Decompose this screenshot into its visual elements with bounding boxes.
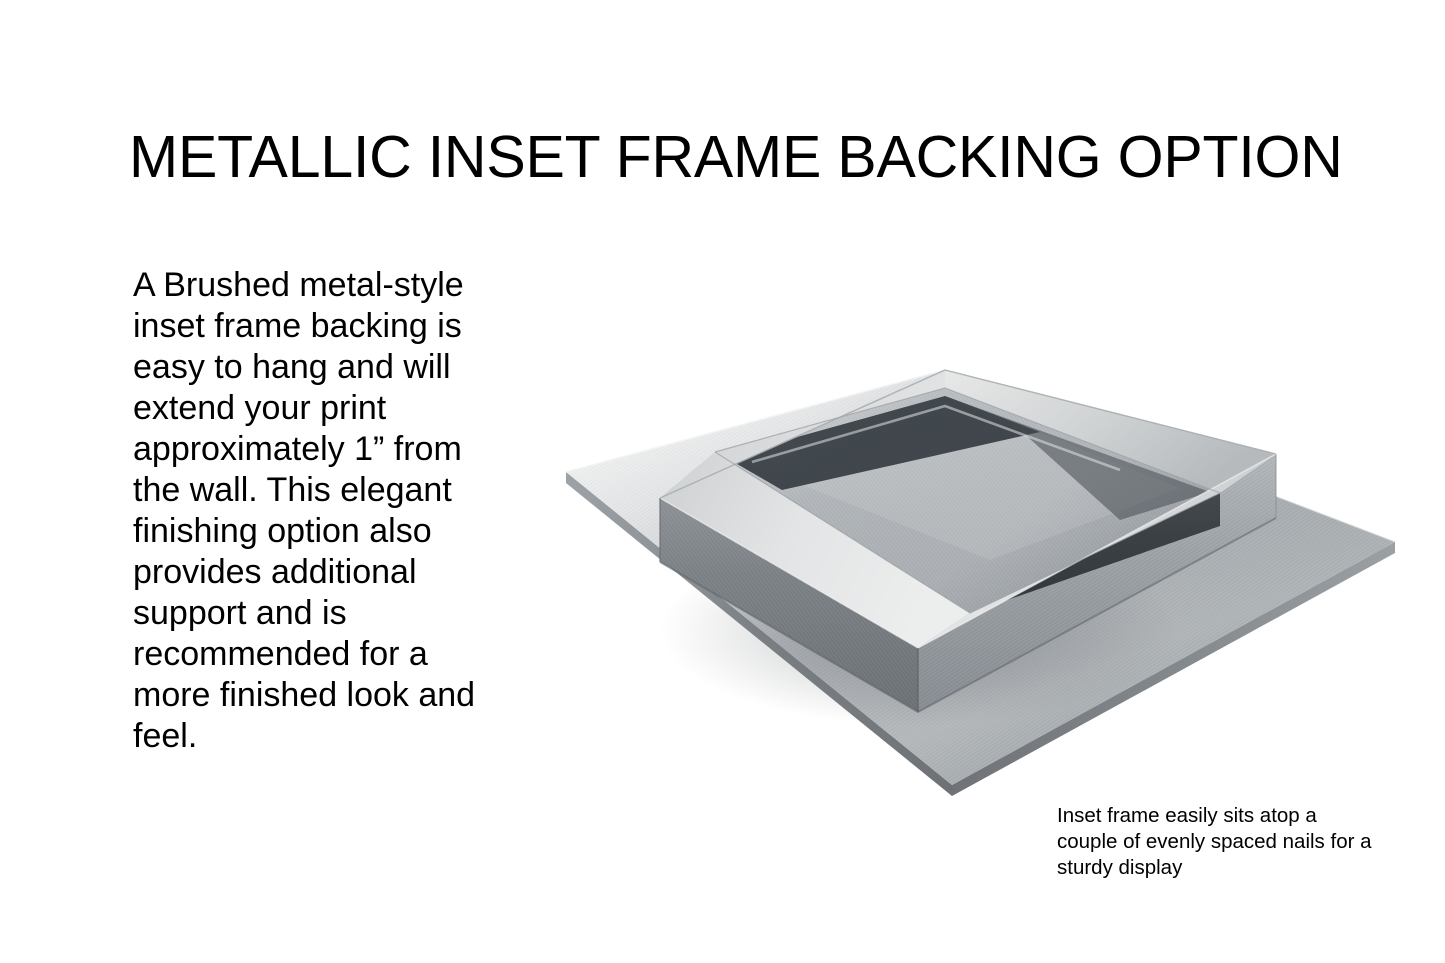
body-paragraph: A Brushed metal-style inset frame backin… <box>133 265 493 757</box>
figure-caption: Inset frame easily sits atop a couple of… <box>1057 803 1377 881</box>
page-title: METALLIC INSET FRAME BACKING OPTION <box>129 128 1343 187</box>
slide-canvas: METALLIC INSET FRAME BACKING OPTION A Br… <box>0 0 1445 963</box>
product-illustration <box>520 330 1420 820</box>
